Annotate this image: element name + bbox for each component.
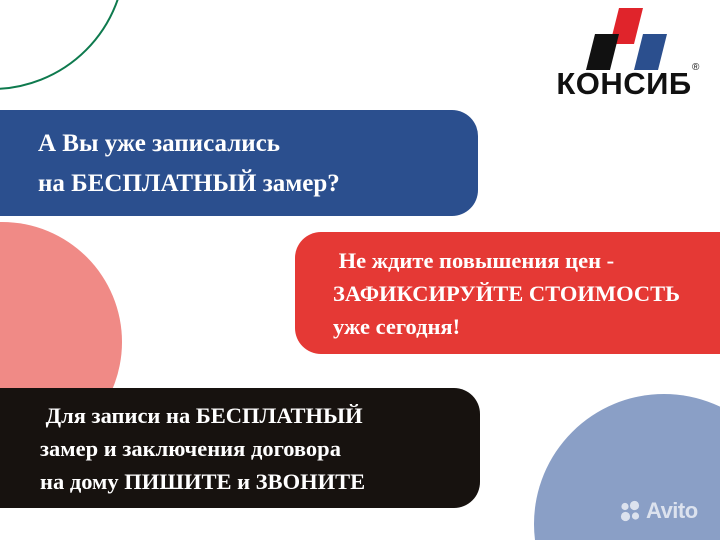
registered-trademark-icon: ®	[692, 62, 699, 73]
konsib-wordmark: КОНСИБ	[538, 66, 710, 102]
banner-red-price-lock: Не ждите повышения цен - ЗАФИКСИРУЙТЕ СТ…	[295, 232, 720, 354]
konsib-logo-mark-icon	[586, 8, 670, 70]
poster-canvas: КОНСИБ ® А Вы уже записались на БЕСПЛАТН…	[0, 0, 720, 540]
avito-dots-icon	[620, 500, 642, 522]
banner-red-line-2: ЗАФИКСИРУЙТЕ СТОИМОСТЬ	[333, 277, 720, 310]
green-ring-icon	[0, 0, 126, 90]
banner-black-contact: Для записи на БЕСПЛАТНЫЙ замер и заключе…	[0, 388, 480, 508]
avito-wordmark: Avito	[646, 500, 698, 522]
banner-black-line-1: Для записи на БЕСПЛАТНЫЙ	[40, 399, 462, 432]
banner-red-line-1: Не ждите повышения цен -	[333, 244, 720, 277]
banner-blue-question: А Вы уже записались на БЕСПЛАТНЫЙ замер?	[0, 110, 478, 216]
avito-watermark: Avito	[620, 500, 698, 522]
konsib-logo: КОНСИБ ®	[538, 8, 710, 108]
banner-red-line-3: уже сегодня!	[333, 310, 720, 343]
banner-blue-line-1: А Вы уже записались	[38, 124, 454, 164]
banner-black-line-2: замер и заключения договора	[40, 432, 462, 465]
banner-blue-line-2: на БЕСПЛАТНЫЙ замер?	[38, 164, 454, 204]
banner-black-line-3: на дому ПИШИТЕ и ЗВОНИТЕ	[40, 465, 462, 498]
